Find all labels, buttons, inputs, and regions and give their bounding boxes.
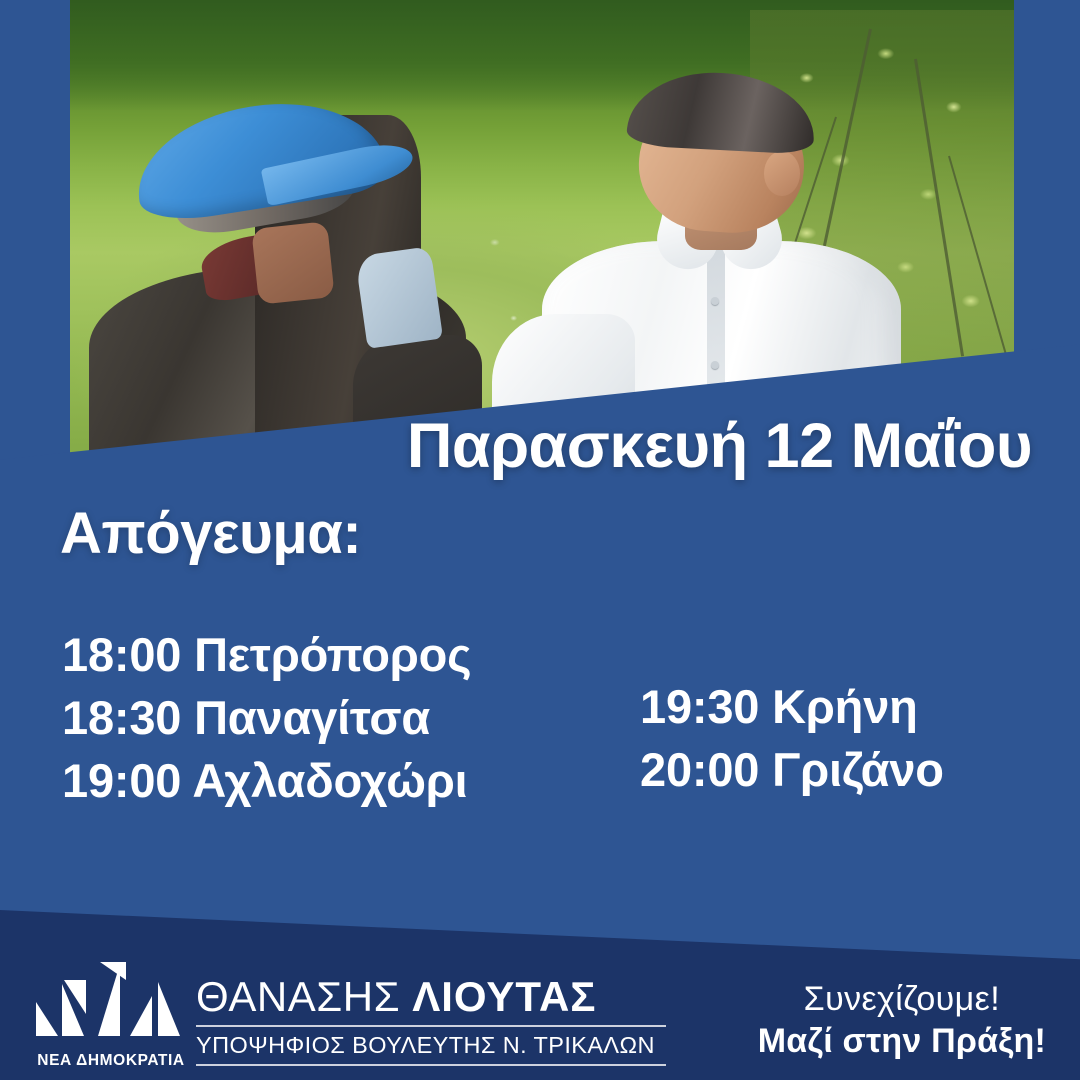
campaign-slogan: Συνεχίζουμε! Μαζί στην Πράξη! <box>758 979 1046 1062</box>
candidate-ear <box>764 151 800 196</box>
candidate-hair <box>626 68 816 155</box>
candidate-role: ΥΠΟΨΗΦΙΟΣ ΒΟΥΛΕΥΤΗΣ Ν. ΤΡΙΚΑΛΩΝ <box>196 1032 666 1059</box>
footer-content: ΝΕΑ ΔΗΜΟΚΡΑΤΙΑ ΘΑΝΑΣΗΣ ΛΙΟΥΤΑΣ ΥΠΟΨΗΦΙΟΣ… <box>0 950 1080 1080</box>
candidate-last-name: ΛΙΟΥΤΑΣ <box>412 973 596 1020</box>
schedule-column-right: 19:30 Κρήνη 20:00 Γριζάνο <box>640 676 944 802</box>
candidate-first-name: ΘΑΝΑΣΗΣ <box>196 973 400 1020</box>
divider-rule-top <box>196 1025 666 1027</box>
candidate-name-line: ΘΑΝΑΣΗΣ ΛΙΟΥΤΑΣ <box>196 975 666 1019</box>
schedule-item: 18:30 Παναγίτσα <box>62 687 471 750</box>
schedule-item: 18:00 Πετρόπορος <box>62 624 471 687</box>
divider-rule-bottom <box>196 1064 666 1066</box>
schedule-column-left: 18:00 Πετρόπορος 18:30 Παναγίτσα 19:00 Α… <box>62 624 471 813</box>
schedule-item: 19:30 Κρήνη <box>640 676 944 739</box>
period-heading: Απόγευμα: <box>60 505 361 563</box>
candidate-identity: ΘΑΝΑΣΗΣ ΛΙΟΥΤΑΣ ΥΠΟΨΗΦΙΟΣ ΒΟΥΛΕΥΤΗΣ Ν. Τ… <box>196 975 666 1066</box>
nea-dimokratia-logo-icon <box>34 962 190 1042</box>
schedule-item: 20:00 Γριζάνο <box>640 739 944 802</box>
shirt-button <box>711 361 719 369</box>
schedule-item: 19:00 Αχλαδοχώρι <box>62 750 471 813</box>
party-logo: ΝΕΑ ΔΗΜΟΚΡΑΤΙΑ <box>26 960 196 1072</box>
party-name: ΝΕΑ ΔΗΜΟΚΡΑΤΙΑ <box>26 1052 196 1070</box>
event-date: Παρασκευή 12 Μαΐου <box>0 415 1032 478</box>
campaign-poster: Παρασκευή 12 Μαΐου Απόγευμα: 18:00 Πετρό… <box>0 0 1080 1080</box>
slogan-line-2: Μαζί στην Πράξη! <box>758 1021 1046 1062</box>
schedule: 18:00 Πετρόπορος 18:30 Παναγίτσα 19:00 Α… <box>0 624 1080 904</box>
slogan-line-1: Συνεχίζουμε! <box>758 979 1046 1020</box>
